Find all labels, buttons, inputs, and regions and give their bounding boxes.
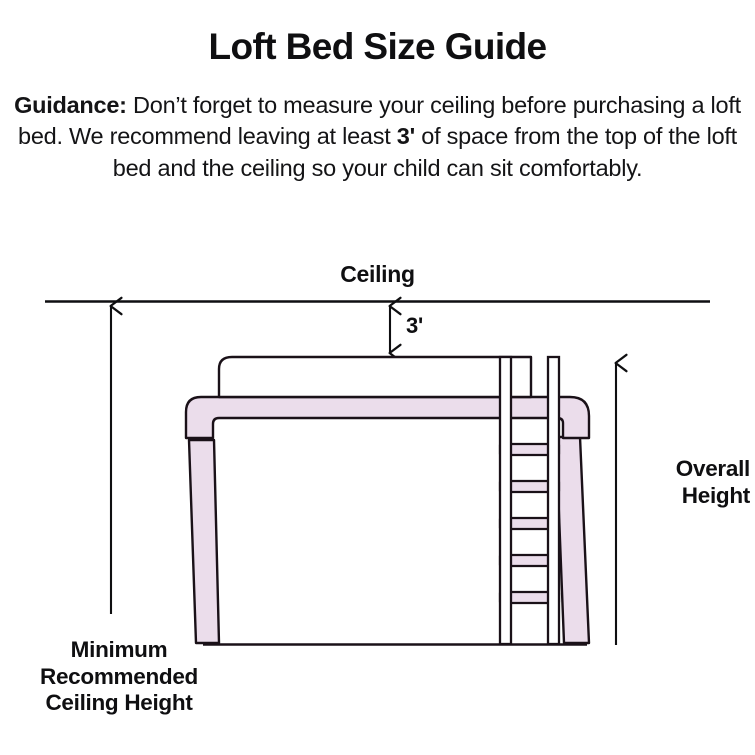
bed-right-leg (556, 437, 589, 643)
bed-upper-frame (186, 397, 589, 438)
loft-bed-size-guide-page: Loft Bed Size Guide Guidance: Don’t forg… (0, 0, 755, 755)
bed-left-leg (189, 440, 219, 643)
mattress (219, 357, 531, 397)
ladder-left-rail (500, 357, 511, 644)
loft-bed-illustration (186, 357, 589, 645)
ladder-right-rail (548, 357, 559, 644)
loft-bed-diagram (0, 0, 755, 755)
